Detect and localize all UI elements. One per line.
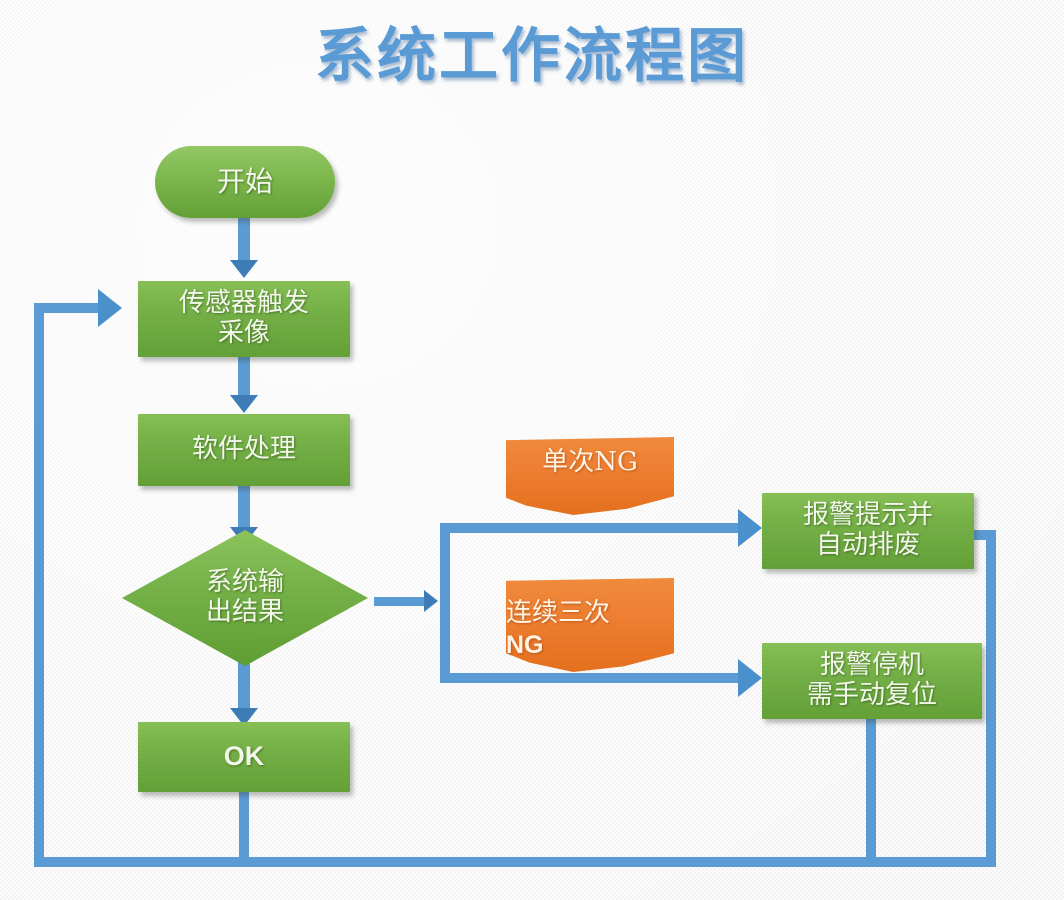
arrowhead-branch-to-alarm-stop [738,659,762,697]
node-alarm-stop-label-line1: 报警停机 [820,651,924,681]
arrowhead-start-to-sensor [230,260,258,278]
connector-feedback-into-sensor [34,303,100,313]
connector-sensor-to-software [238,355,250,399]
connector-bottom-rail [34,857,996,867]
node-sensor-trigger-label-line1: 传感器触发 [179,289,309,319]
node-alarm-eject-label-line1: 报警提示并 [803,501,933,531]
connector-branch-splitter [440,523,450,683]
node-start-label: 开始 [217,166,273,198]
connector-left-riser [34,303,44,863]
node-alarm-stop[interactable]: 报警停机 需手动复位 [762,643,982,719]
connector-decision-to-ok [238,660,250,712]
arrowhead-branch-to-alarm-eject [738,509,762,547]
node-ok[interactable]: OK [138,722,350,792]
annotation-single-ng-label: 单次NG [542,447,638,478]
node-software-process[interactable]: 软件处理 [138,414,350,486]
connector-branch-to-alarm-stop [440,673,740,683]
connector-alarm-eject-drop [986,530,996,862]
connector-branch-to-alarm-eject [440,523,740,533]
node-decision-output-label-line2: 出结果 [206,598,284,628]
annotation-single-ng[interactable]: 单次NG [506,437,674,515]
flowchart-canvas: 系统工作流程图 开始 传感器触发 采像 软件处理 [0,0,1064,900]
connector-software-to-decision [238,486,250,530]
connector-ok-drop [239,790,249,862]
node-decision-output-label: 系统输 出结果 [206,568,284,628]
arrowhead-sensor-to-software [230,395,258,413]
annotation-triple-ng-label-line1: 连续三次 [506,598,610,629]
connector-start-to-sensor [238,216,250,264]
node-alarm-eject-label-line2: 自动排废 [816,531,920,561]
node-decision-output-label-line1: 系统输 [206,568,284,598]
connector-decision-right-stub [374,597,426,606]
arrowhead-feedback-into-sensor [98,289,122,327]
node-start[interactable]: 开始 [155,146,335,218]
node-alarm-eject[interactable]: 报警提示并 自动排废 [762,493,974,569]
annotation-triple-ng[interactable]: 连续三次 NG [506,578,674,672]
node-sensor-trigger[interactable]: 传感器触发 采像 [138,281,350,357]
node-alarm-stop-label-line2: 需手动复位 [807,681,937,711]
arrowhead-decision-right [424,590,438,612]
node-sensor-trigger-label-line2: 采像 [218,319,270,349]
node-software-process-label: 软件处理 [192,435,296,465]
connector-alarm-stop-drop [866,715,876,862]
page-title: 系统工作流程图 [0,8,1064,93]
node-ok-label: OK [224,741,265,772]
annotation-triple-ng-label-line2: NG [506,630,544,660]
node-decision-output[interactable]: 系统输 出结果 [122,530,368,666]
